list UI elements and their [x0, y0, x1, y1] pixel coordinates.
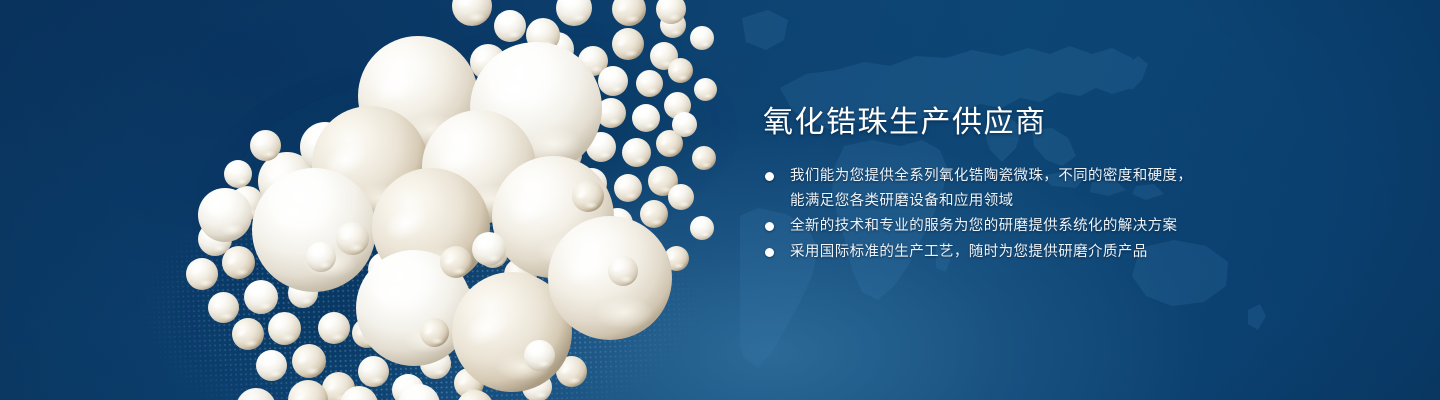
page-title: 氧化锆珠生产供应商 — [763, 104, 1283, 142]
bullet-dot-icon — [765, 248, 774, 257]
bullet-dot-icon — [765, 172, 774, 181]
bullet-dot-icon — [765, 222, 774, 231]
list-item: 全新的技术和专业的服务为您的研磨提供系统化的解决方案 — [763, 214, 1283, 239]
bullet-text-line1: 我们能为您提供全系列氧化锆陶瓷微珠，不同的密度和硬度， — [790, 168, 1192, 184]
feature-bullet-list: 我们能为您提供全系列氧化锆陶瓷微珠，不同的密度和硬度， 能满足您各类研磨设备和应… — [763, 164, 1283, 264]
bullet-text-line1: 全新的技术和专业的服务为您的研磨提供系统化的解决方案 — [790, 218, 1177, 234]
hero-banner: 氧化锆珠生产供应商 我们能为您提供全系列氧化锆陶瓷微珠，不同的密度和硬度， 能满… — [0, 0, 1440, 400]
list-item: 我们能为您提供全系列氧化锆陶瓷微珠，不同的密度和硬度， 能满足您各类研磨设备和应… — [763, 164, 1283, 213]
banner-copy-block: 氧化锆珠生产供应商 我们能为您提供全系列氧化锆陶瓷微珠，不同的密度和硬度， 能满… — [763, 104, 1283, 265]
list-item: 采用国际标准的生产工艺，随时为您提供研磨介质产品 — [763, 240, 1283, 265]
bullet-text-line1: 采用国际标准的生产工艺，随时为您提供研磨介质产品 — [790, 244, 1148, 260]
bullet-text-line2: 能满足您各类研磨设备和应用领域 — [790, 189, 1283, 214]
